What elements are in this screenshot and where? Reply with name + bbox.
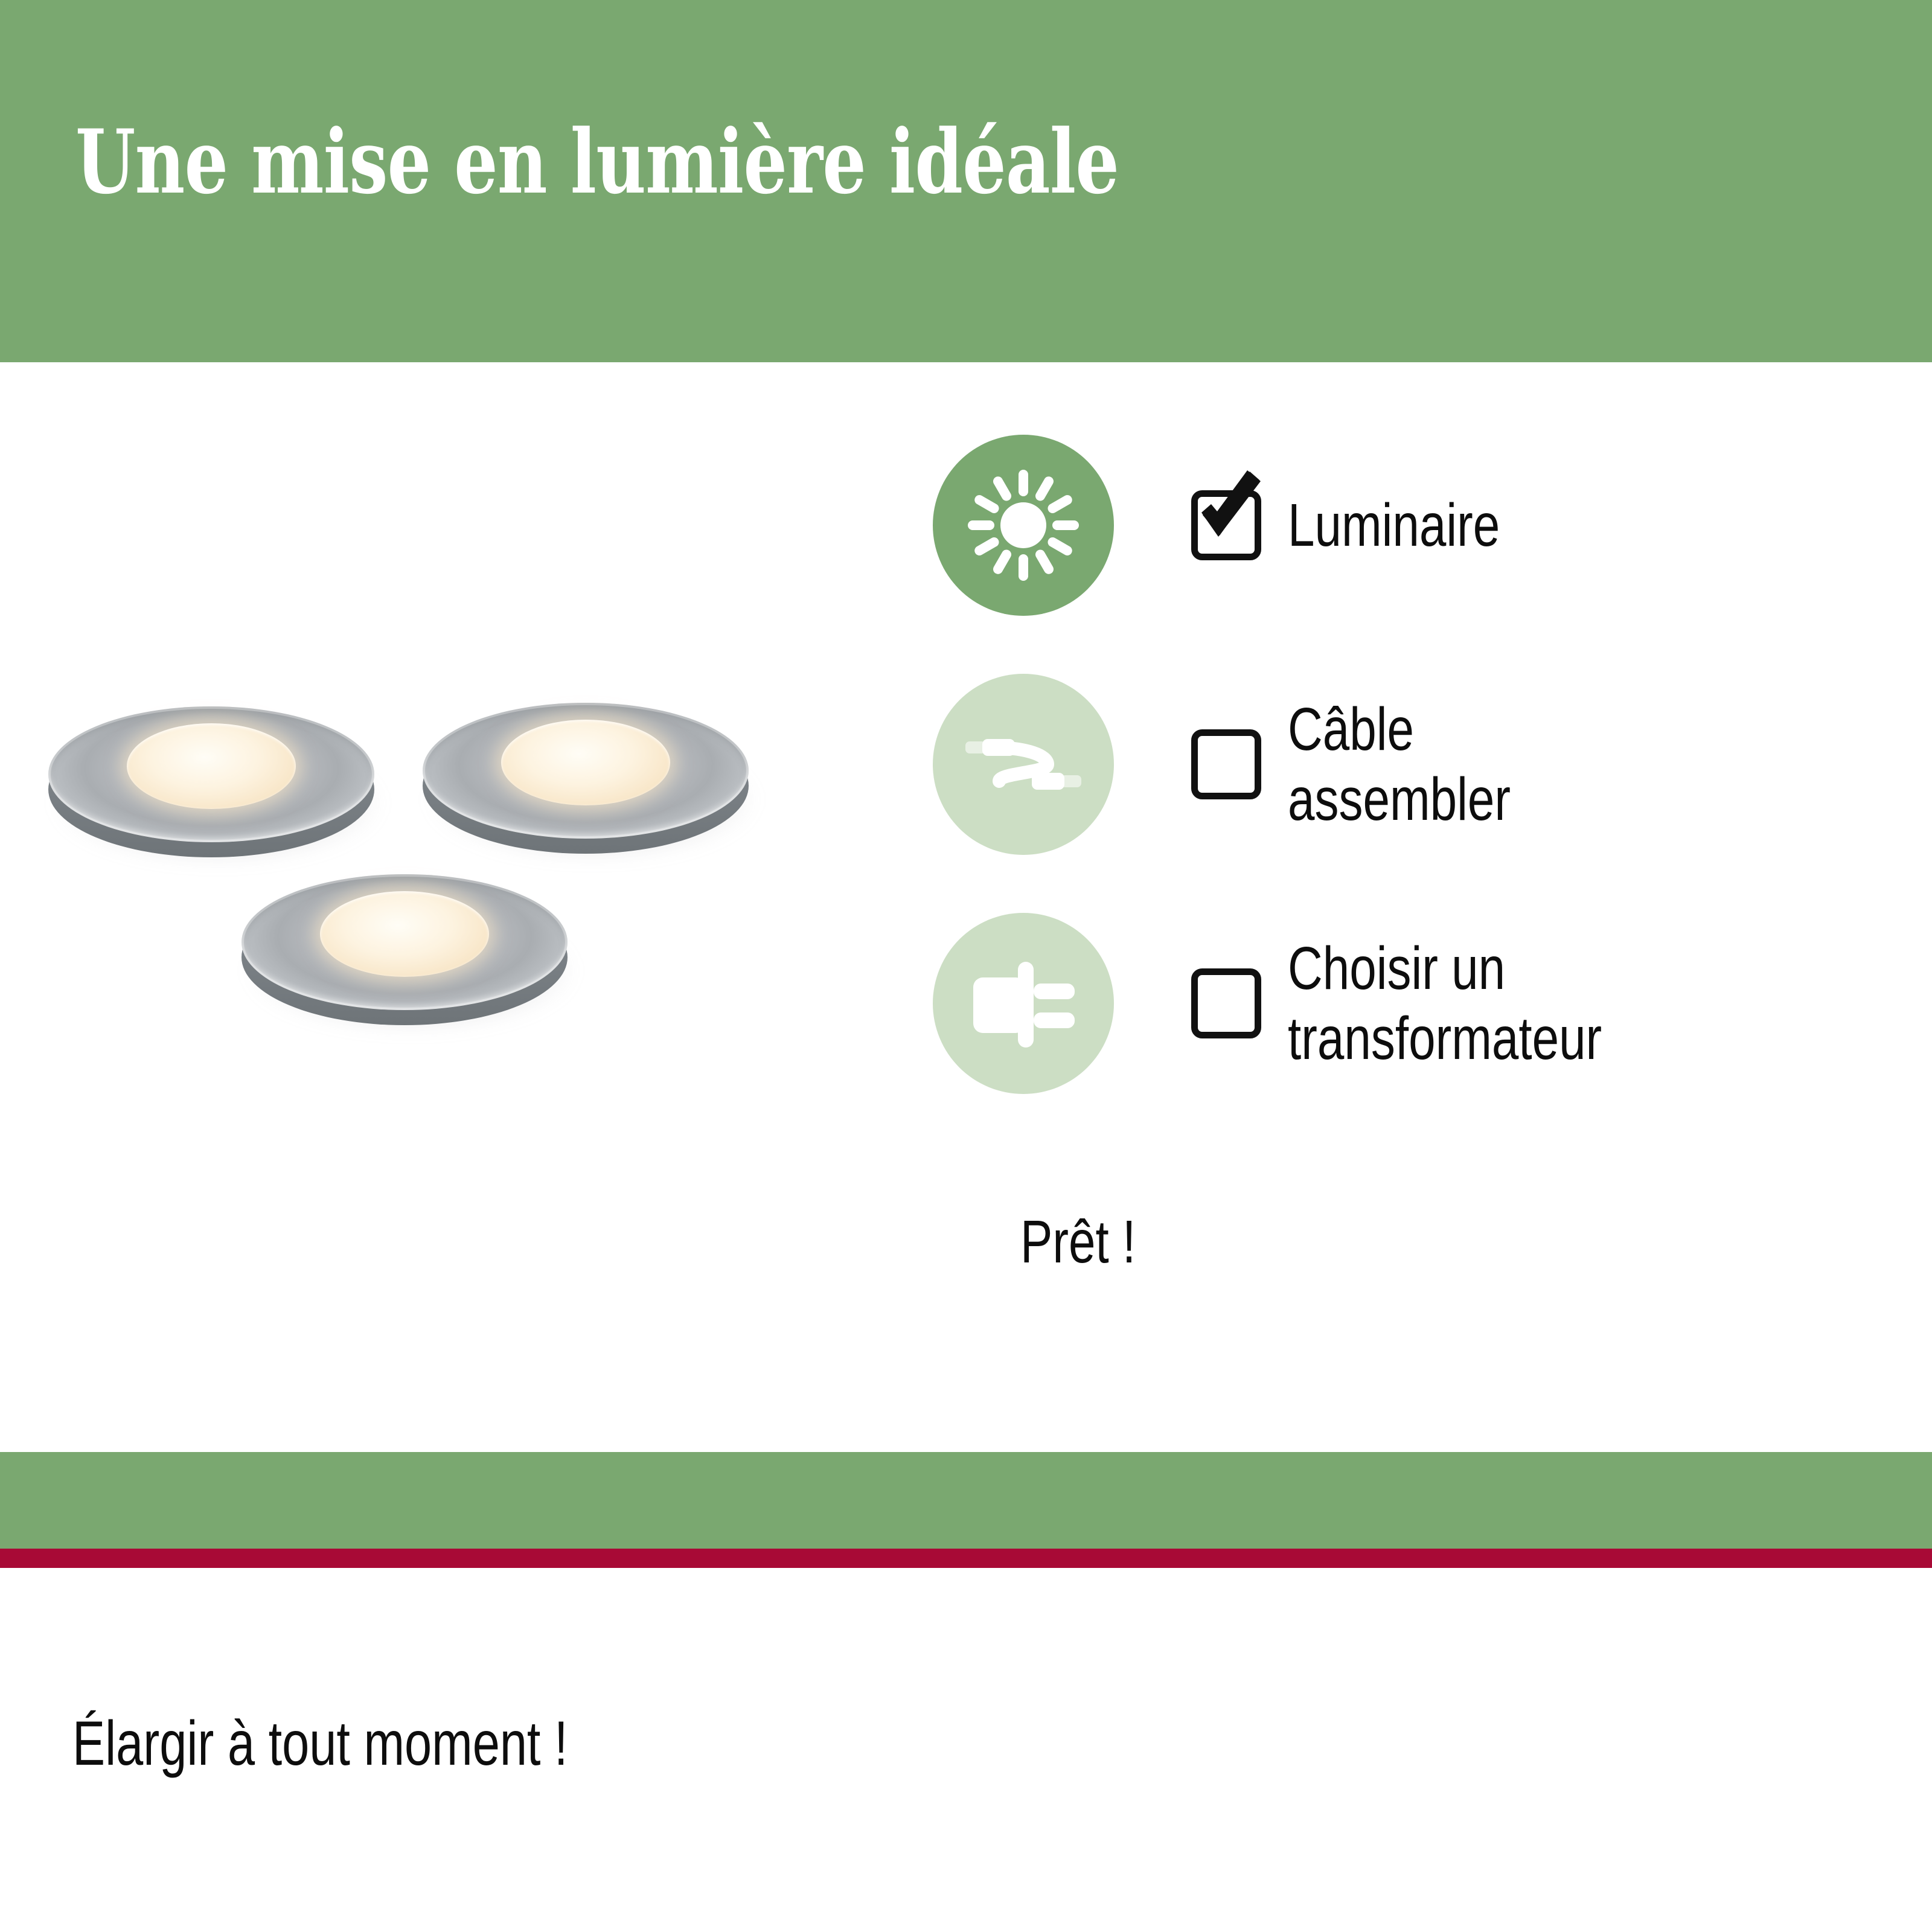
plug-icon: [960, 940, 1087, 1067]
plug-icon-badge: [933, 913, 1114, 1094]
checklist-row-luminaire[interactable]: Luminaire: [933, 435, 1875, 616]
sun-icon: [963, 465, 1084, 586]
main-content: Luminaire Câble assembler: [0, 362, 1932, 1452]
page-title: Une mise en lumière idéale: [75, 118, 1119, 206]
checklist-label-luminaire: Luminaire: [1288, 490, 1500, 560]
recessed-light: [48, 706, 374, 857]
checklist-row-cable[interactable]: Câble assembler: [933, 674, 1875, 855]
sun-icon-badge: [933, 435, 1114, 616]
lamp-lens: [501, 720, 671, 806]
footer-caption: Élargir à tout moment !: [72, 1708, 568, 1780]
cable-icon-badge: [933, 674, 1114, 855]
red-accent-band: [0, 1549, 1932, 1568]
checkbox-luminaire[interactable]: [1191, 490, 1261, 560]
checklist-row-transformer[interactable]: Choisir un transformateur: [933, 913, 1875, 1094]
recessed-light: [241, 874, 568, 1025]
checkbox-transformer[interactable]: [1191, 968, 1261, 1038]
header-banner: Une mise en lumière idéale: [0, 0, 1932, 362]
lamp-lens: [127, 723, 296, 810]
recessed-light: [423, 703, 749, 854]
cable-icon: [957, 698, 1090, 831]
ready-text: Prêt !: [1020, 1207, 1136, 1277]
product-image: [36, 700, 912, 1147]
checklist-label-transformer: Choisir un transformateur: [1288, 933, 1602, 1073]
lamp-lens: [320, 891, 490, 977]
footer-area: Élargir à tout moment !: [0, 1568, 1932, 1932]
checklist: Luminaire Câble assembler: [933, 435, 1875, 1094]
checklist-label-cable: Câble assembler: [1288, 694, 1511, 834]
checkbox-cable[interactable]: [1191, 729, 1261, 799]
checkmark-icon: [1185, 468, 1275, 558]
green-divider-band: [0, 1452, 1932, 1549]
